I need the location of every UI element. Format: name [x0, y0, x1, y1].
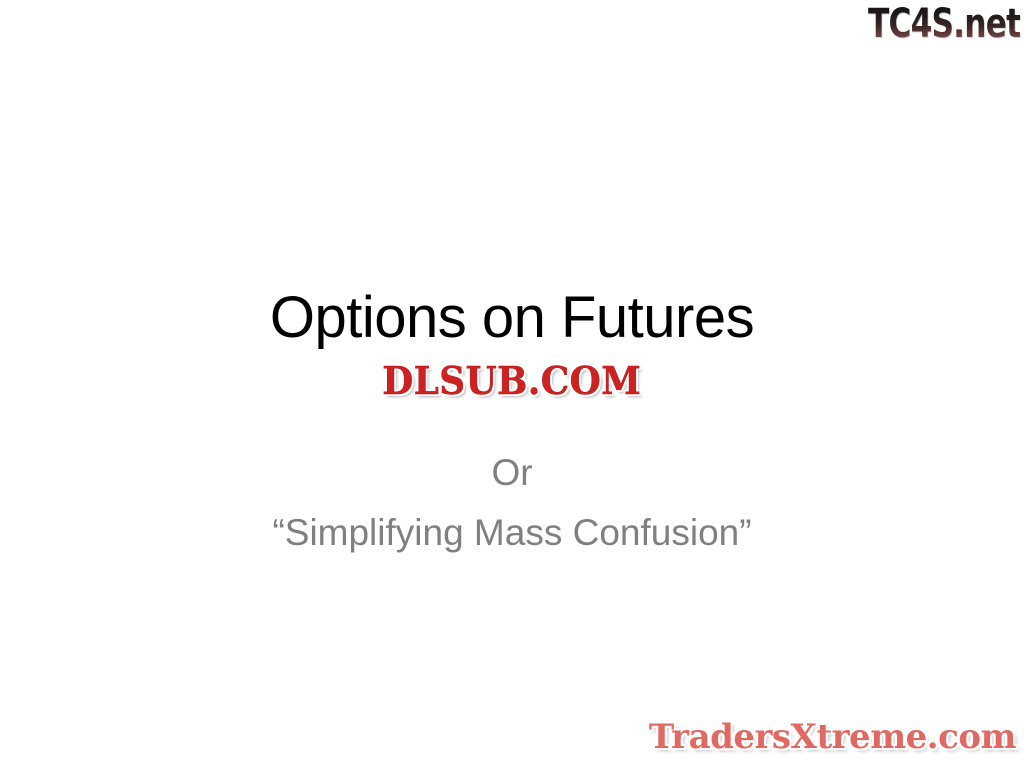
slide-subtitle: Or “Simplifying Mass Confusion” — [0, 443, 1024, 563]
tradersxtreme-watermark-text: TradersXtreme.com — [649, 718, 1016, 756]
presentation-slide: TC4S.net Options on Futures DLSUB.COM Or… — [0, 0, 1024, 768]
tradersxtreme-watermark: TradersXtreme.com — [649, 718, 1016, 756]
slide-title: Options on Futures — [0, 286, 1024, 350]
tc4s-watermark: TC4S.net — [868, 2, 1020, 46]
slide-subtitle-line-1: Or — [0, 443, 1024, 503]
slide-subtitle-line-2: “Simplifying Mass Confusion” — [0, 503, 1024, 563]
dlsub-watermark-text: DLSUB.COM — [382, 360, 641, 402]
dlsub-watermark: DLSUB.COM — [0, 360, 1024, 402]
